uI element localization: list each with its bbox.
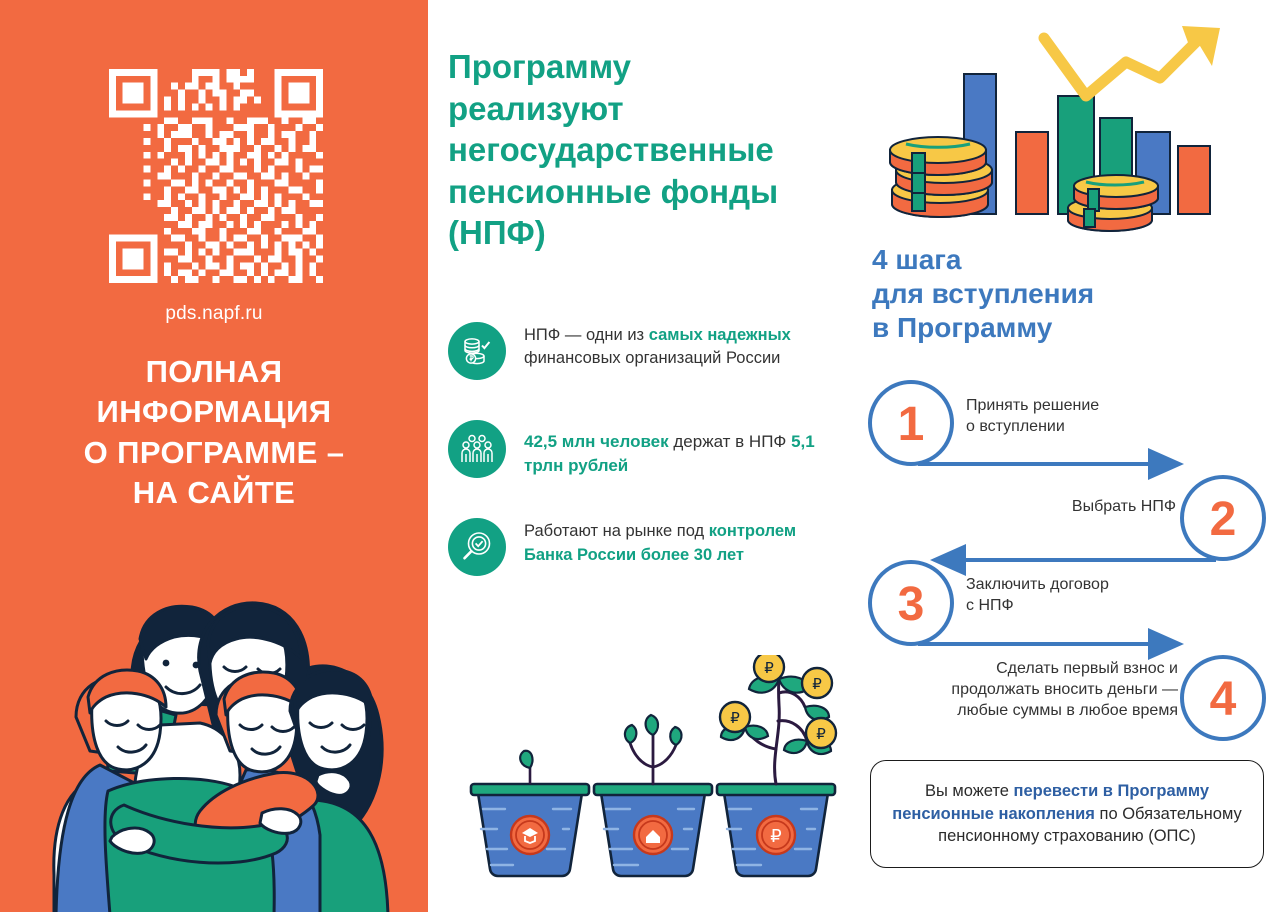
step-4-line-3: любые суммы в любое время [866,700,1178,721]
svg-text:2: 2 [1210,493,1237,546]
chart-bar-6 [1178,146,1210,214]
step-4-line-2: продолжать вносить деньги — [866,679,1178,700]
fact-text-supervision: Работают на рынке под контролем Банка Ро… [524,518,848,567]
left-headline-line-1: ПОЛНАЯ [14,352,414,392]
center-headline-line-4: пенсионные фонды [448,171,848,213]
left-headline-line-4: НА САЙТЕ [14,473,414,513]
growing-plants-illustration: ₽ [453,655,853,895]
magnifier-check-icon [448,518,506,576]
center-headline-line-3: негосударственные [448,129,848,171]
steps-flow: 1 2 3 4 Принять решение о вступлении Выб… [866,378,1268,746]
step-3-line-1: Заключить договор [966,574,1196,595]
svg-text:₽: ₽ [816,725,826,743]
right-column: 4 шага для вступления в Программу [866,0,1268,912]
right-headline: 4 шага для вступления в Программу [872,243,1268,345]
qr-code[interactable] [102,62,330,290]
bar-chart-illustration [868,22,1268,237]
right-headline-line-3: в Программу [872,311,1268,345]
fact-list: НПФ — одни из самых надежных финансовых … [448,322,848,616]
transfer-note-text: Вы можете перевести в Программу пенсионн… [885,780,1249,847]
fact-1-strong: самых надежных [649,326,791,344]
growth-arrow-icon [1044,34,1204,96]
right-headline-line-2: для вступления [872,277,1268,311]
step-label-3: Заключить договор с НПФ [966,574,1196,616]
svg-text:₽: ₽ [770,826,781,847]
fact-item-supervision: Работают на рынке под контролем Банка Ро… [448,518,848,576]
svg-text:₽: ₽ [730,709,740,727]
center-column: Программу реализуют негосударственные пе… [448,0,848,912]
fact-1-pre: НПФ — одни из [524,326,649,344]
transfer-note-box: Вы можете перевести в Программу пенсионн… [870,760,1264,868]
people-hugging-illustration [14,575,422,912]
svg-text:3: 3 [898,578,925,631]
fact-3-pre: Работают на рынке под [524,522,709,540]
qr-url-label: pds.napf.ru [0,303,428,325]
center-headline-line-1: Программу [448,46,848,88]
note-pre: Вы можете [925,782,1014,800]
center-headline-line-5: (НПФ) [448,212,848,254]
fact-item-members: 42,5 млн человек держат в НПФ 5,1 трлн р… [448,420,848,478]
left-orange-panel: pds.napf.ru ПОЛНАЯ ИНФОРМАЦИЯ О ПРОГРАММ… [0,0,428,912]
left-headline-line-2: ИНФОРМАЦИЯ [14,392,414,432]
step-label-2: Выбрать НПФ [886,496,1176,517]
infographic-page: pds.napf.ru ПОЛНАЯ ИНФОРМАЦИЯ О ПРОГРАММ… [0,0,1280,912]
left-headline: ПОЛНАЯ ИНФОРМАЦИЯ О ПРОГРАММЕ – НА САЙТЕ [14,352,414,513]
left-headline-line-3: О ПРОГРАММЕ – [14,433,414,473]
right-headline-line-1: 4 шага [872,243,1268,277]
fact-item-reliability: НПФ — одни из самых надежных финансовых … [448,322,848,380]
fact-text-members: 42,5 млн человек держат в НПФ 5,1 трлн р… [524,420,848,478]
step-2-line-1: Выбрать НПФ [886,496,1176,517]
chart-bar-2 [1016,132,1048,214]
people-group-icon [448,420,506,478]
coins-check-icon [448,322,506,380]
step-1-line-1: Принять решение [966,395,1196,416]
svg-text:₽: ₽ [812,675,822,693]
fact-1-post: финансовых организаций России [524,349,780,367]
fact-2-strong-1: 42,5 млн человек [524,432,669,451]
step-3-line-2: с НПФ [966,595,1196,616]
step-1-line-2: о вступлении [966,416,1196,437]
step-label-1: Принять решение о вступлении [966,395,1196,437]
step-label-4: Сделать первый взнос и продолжать вносит… [866,658,1178,721]
fact-text-reliability: НПФ — одни из самых надежных финансовых … [524,322,848,371]
fact-2-mid: держат в НПФ [669,432,791,451]
center-headline: Программу реализуют негосударственные пе… [448,46,848,254]
svg-text:₽: ₽ [764,659,774,677]
svg-text:4: 4 [1210,673,1237,726]
svg-text:1: 1 [898,398,925,451]
step-4-line-1: Сделать первый взнос и [866,658,1178,679]
center-headline-line-2: реализуют [448,88,848,130]
